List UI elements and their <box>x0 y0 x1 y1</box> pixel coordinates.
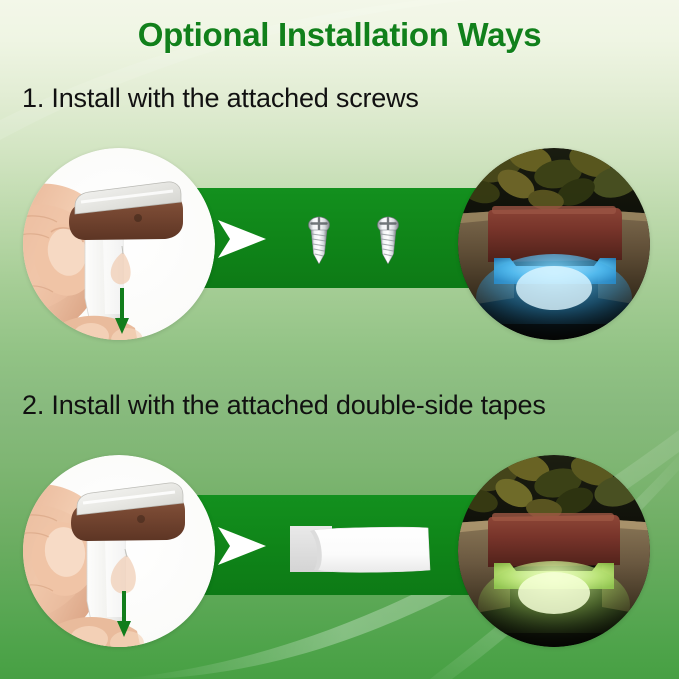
photo-hand-holding-light-screws <box>23 148 215 340</box>
right-arrow-icon <box>216 216 268 262</box>
screw-2-icon <box>376 216 400 268</box>
photo-installed-light-green-glow <box>458 455 650 647</box>
infographic-page: Optional Installation Ways 1. Install wi… <box>0 0 679 679</box>
double-side-tape-icon <box>288 520 433 582</box>
page-title: Optional Installation Ways <box>0 16 679 54</box>
step-1-heading: 1. Install with the attached screws <box>22 83 419 114</box>
photo-installed-light-blue-glow <box>458 148 650 340</box>
right-arrow-icon <box>216 523 268 569</box>
screw-1-icon <box>307 216 331 268</box>
photo-hand-holding-light-tapes <box>23 455 215 647</box>
step-2-heading: 2. Install with the attached double-side… <box>22 390 546 421</box>
